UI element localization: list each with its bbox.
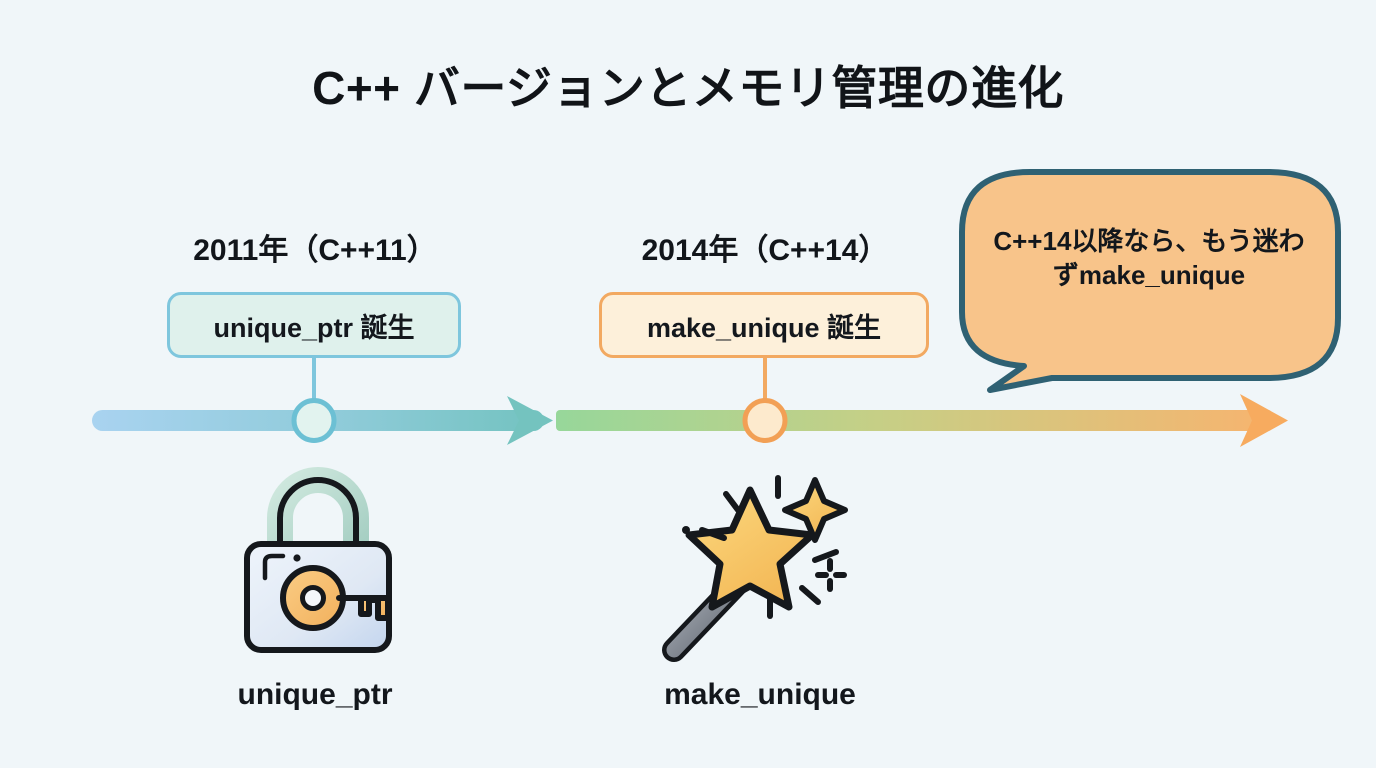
magic-wand-icon xyxy=(674,478,845,650)
milestone-year-2011: 2011年（C++11） xyxy=(155,236,475,266)
milestone-event-label: make_unique 誕生 xyxy=(647,306,881,345)
milestone-event-unique-ptr[interactable]: unique_ptr 誕生 xyxy=(167,292,461,358)
lock-icon xyxy=(247,480,389,650)
callout-text: C++14以降なら、もう迷わずmake_unique xyxy=(986,224,1312,293)
callout-text-wrap: C++14以降なら、もう迷わずmake_unique xyxy=(958,168,1340,393)
milestone-year-2014: 2014年（C++14） xyxy=(605,236,925,266)
page-title: C++ バージョンとメモリ管理の進化 xyxy=(0,62,1376,115)
icon-caption-make-unique: make_unique xyxy=(605,680,915,710)
milestone-event-label: unique_ptr 誕生 xyxy=(214,306,415,345)
milestone-event-make-unique[interactable]: make_unique 誕生 xyxy=(599,292,929,358)
icon-caption-unique-ptr: unique_ptr xyxy=(160,680,470,710)
slide-canvas: C++ バージョンとメモリ管理の進化 xyxy=(0,0,1376,768)
timeline-marker-2011[interactable] xyxy=(294,401,334,441)
timeline-marker-2014[interactable] xyxy=(745,401,785,441)
